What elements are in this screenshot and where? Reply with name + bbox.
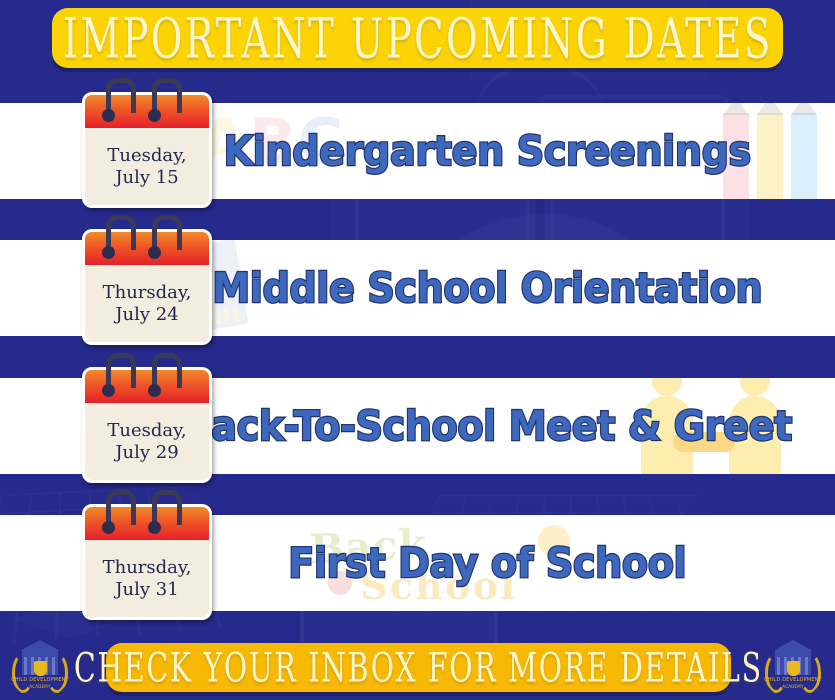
calendar-ring-icon: [152, 353, 182, 388]
calendar-body: Tuesday, July 15: [82, 92, 212, 208]
event-date: July 29: [115, 442, 178, 463]
school-logo-icon: CHILD DEVELOPMENT ACADEMY: [762, 637, 824, 699]
calendar-body: Thursday, July 31: [82, 504, 212, 620]
calendar-icon: Tuesday, July 29: [82, 367, 206, 477]
calendar-date-text: Tuesday, July 15: [85, 128, 209, 205]
event-day: Tuesday,: [107, 420, 186, 441]
event-date: July 15: [115, 167, 178, 188]
shield-icon: [34, 661, 47, 676]
calendar-ring-icon: [106, 78, 136, 113]
event-day: Thursday,: [103, 282, 192, 303]
page-title: IMPORTANT UPCOMING DATES: [63, 6, 773, 71]
logo-name: CHILD DEVELOPMENT: [762, 677, 824, 683]
calendar-ring-icon: [106, 215, 136, 250]
logo-sub: ACADEMY: [762, 684, 824, 689]
poster: IMPORTANT UPCOMING DATES ABC Kindergarte…: [0, 0, 835, 700]
calendar-icon: Tuesday, July 15: [82, 92, 206, 202]
footer-call-to-action: CHECK YOUR INBOX FOR MORE DETAILS: [74, 644, 763, 692]
shield-icon: [787, 661, 800, 676]
calendar-ring-icon: [152, 490, 182, 525]
calendar-body: Thursday, July 24: [82, 229, 212, 345]
event-day: Tuesday,: [107, 145, 186, 166]
header-banner: IMPORTANT UPCOMING DATES: [52, 8, 783, 68]
event-date: July 31: [115, 579, 178, 600]
calendar-ring-icon: [152, 215, 182, 250]
event-day: Thursday,: [103, 557, 192, 578]
footer-banner: CHECK YOUR INBOX FOR MORE DETAILS: [106, 643, 731, 692]
calendar-date-text: Thursday, July 24: [85, 265, 209, 342]
calendar-icon: Thursday, July 31: [82, 504, 206, 614]
calendar-icon: Thursday, July 24: [82, 229, 206, 339]
calendar-ring-icon: [106, 490, 136, 525]
calendar-body: Tuesday, July 29: [82, 367, 212, 483]
logo-sub: ACADEMY: [9, 684, 71, 689]
school-logo-icon: CHILD DEVELOPMENT ACADEMY: [9, 637, 71, 699]
calendar-ring-icon: [152, 78, 182, 113]
calendar-date-text: Thursday, July 31: [85, 540, 209, 617]
calendar-date-text: Tuesday, July 29: [85, 403, 209, 480]
logo-name: CHILD DEVELOPMENT: [9, 677, 71, 683]
calendar-ring-icon: [106, 353, 136, 388]
event-date: July 24: [115, 304, 178, 325]
